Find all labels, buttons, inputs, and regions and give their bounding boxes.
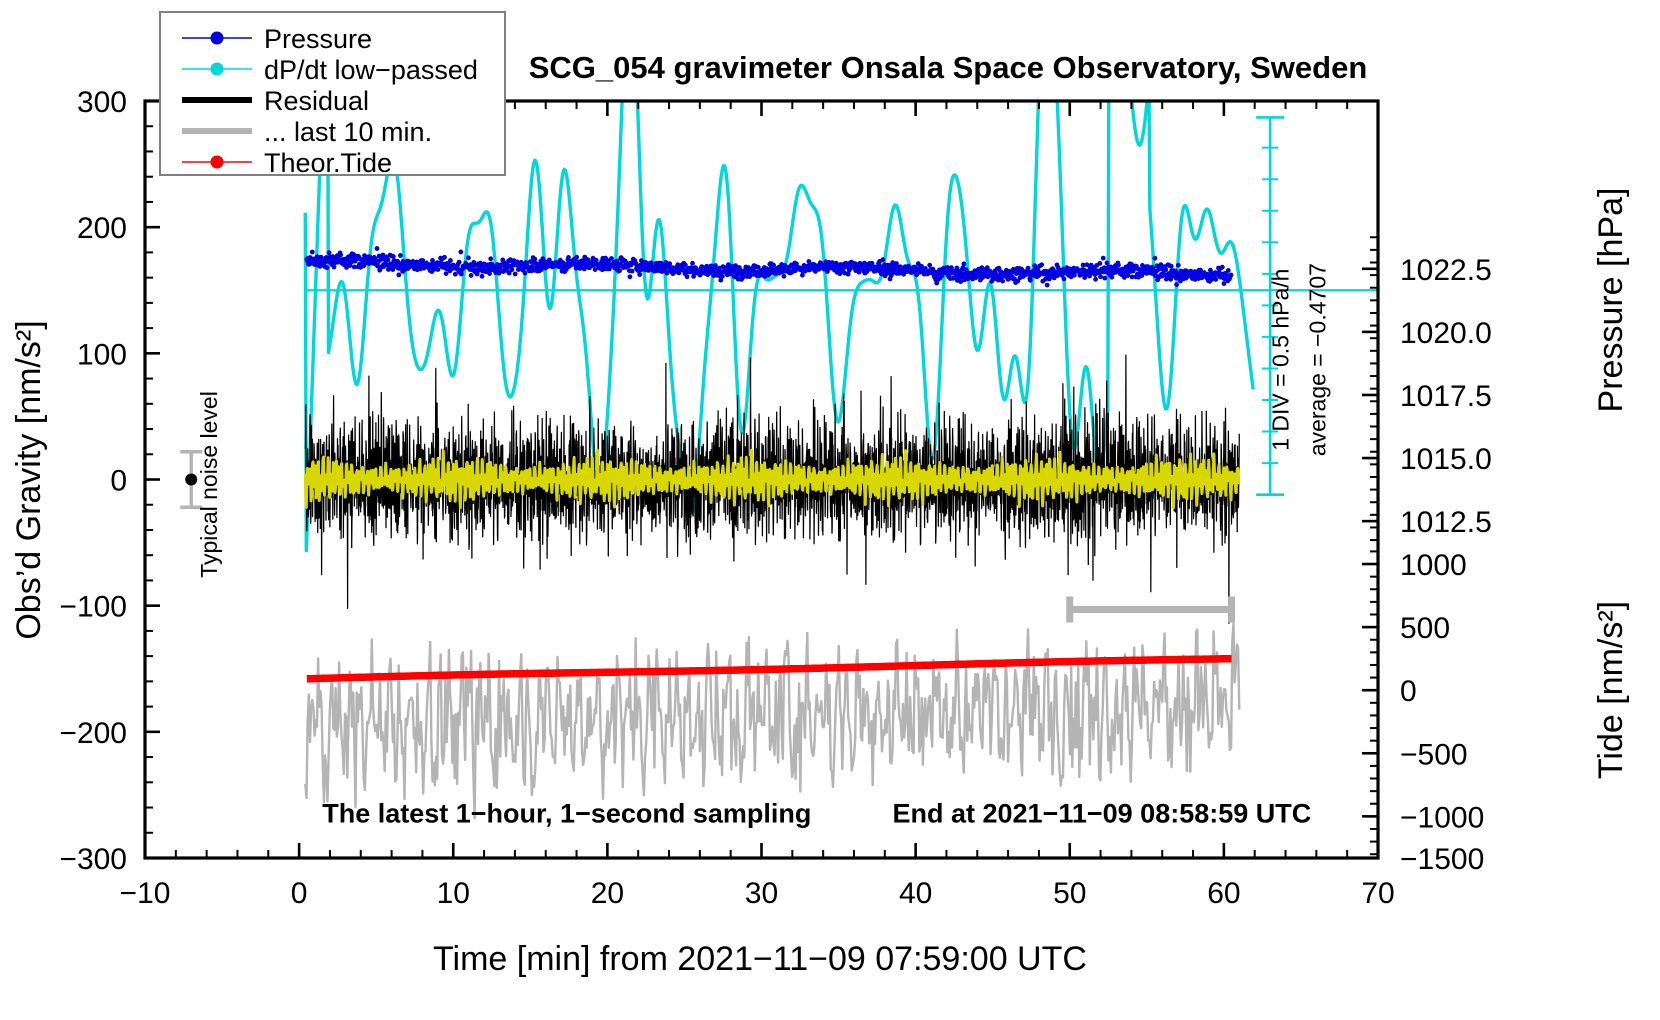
pressure-point: [310, 250, 315, 255]
ytick-label-6: −300: [59, 843, 127, 876]
pressure-point: [637, 272, 642, 277]
pressure-tick-label-0: 1022.5: [1400, 254, 1492, 287]
pressure-point: [1026, 266, 1031, 271]
pressure-point: [1105, 261, 1110, 266]
pressure-point: [685, 274, 690, 279]
pressure-point: [949, 265, 954, 270]
legend-marker-4: [211, 156, 224, 169]
pressure-point: [617, 268, 622, 273]
pressure-point: [1110, 275, 1115, 280]
pressure-point: [469, 273, 474, 278]
pressure-point: [1163, 267, 1168, 272]
pressure-point: [1098, 274, 1103, 279]
pressure-point: [325, 265, 330, 270]
xtick-label-6: 50: [1053, 877, 1086, 910]
tide-tick-label-5: −1500: [1400, 843, 1484, 876]
pressure-point: [488, 256, 493, 261]
pressure-point: [782, 274, 787, 279]
scale-div-label: 1 DIV = 0.5 hPa/h: [1268, 269, 1294, 451]
pressure-point: [1028, 278, 1033, 283]
pressure-point: [1220, 265, 1225, 270]
pressure-point: [327, 250, 332, 255]
gravimeter-plot: −100102030405060703002001000−100−200−300…: [0, 0, 1660, 1020]
xtick-label-7: 60: [1207, 877, 1240, 910]
xtick-label-2: 10: [437, 877, 470, 910]
pressure-point: [1116, 263, 1121, 268]
ytick-label-5: −200: [59, 717, 127, 750]
tide-tick-label-2: 0: [1400, 675, 1417, 708]
legend-label-1: dP/dt low−passed: [264, 55, 478, 85]
tide-tick-label-4: −1000: [1400, 801, 1484, 834]
ytick-label-0: 300: [77, 86, 127, 119]
pressure-point: [332, 265, 337, 270]
pressure-point: [448, 258, 453, 263]
pressure-point: [1039, 262, 1044, 267]
x-axis-title: Time [min] from 2021−11−09 07:59:00 UTC: [433, 940, 1087, 978]
ytick-label-1: 200: [77, 212, 127, 245]
legend-label-2: Residual: [264, 86, 369, 116]
ytick-label-3: 0: [110, 465, 127, 498]
pressure-point: [375, 246, 380, 251]
pressure-point: [442, 255, 447, 260]
pressure-point: [630, 269, 635, 274]
legend-marker-0: [211, 32, 224, 45]
xtick-label-3: 20: [591, 877, 624, 910]
typical-noise-level-label: Typical noise level: [196, 391, 222, 578]
pressure-point: [457, 260, 462, 265]
right-axis-title-pressure: Pressure [hPa]: [1592, 188, 1630, 413]
legend-label-4: Theor.Tide: [264, 148, 392, 178]
pressure-point: [1229, 273, 1234, 278]
pressure-point: [1169, 264, 1174, 269]
pressure-tick-label-1: 1020.0: [1400, 317, 1492, 350]
pressure-point: [720, 274, 725, 279]
pressure-point: [1093, 277, 1098, 282]
legend-marker-1: [211, 63, 224, 76]
xtick-label-0: −10: [120, 877, 171, 910]
pressure-point: [391, 254, 396, 259]
pressure-point: [690, 261, 695, 266]
legend-label-0: Pressure: [264, 24, 372, 54]
pressure-point: [1213, 277, 1218, 282]
series-last-10-min: [305, 623, 1239, 818]
pressure-tick-label-4: 1012.5: [1400, 506, 1492, 539]
average-label: average = −0.4707: [1305, 263, 1331, 456]
pressure-point: [1174, 282, 1179, 287]
footer-sampling-note: The latest 1−hour, 1−second sampling: [322, 799, 811, 829]
pressure-point: [628, 274, 633, 279]
pressure-point: [667, 261, 672, 266]
pressure-point: [713, 263, 718, 268]
tide-tick-label-0: 1000: [1400, 549, 1467, 582]
pressure-point: [962, 262, 967, 267]
pressure-point: [513, 272, 518, 277]
pressure-point: [1062, 277, 1067, 282]
chart-title: SCG_054 gravimeter Onsala Space Observat…: [529, 50, 1368, 85]
pressure-point: [523, 271, 528, 276]
pressure-tick-label-2: 1017.5: [1400, 380, 1492, 413]
pressure-point: [510, 267, 515, 272]
pressure-point: [1098, 261, 1103, 266]
pressure-point: [881, 257, 886, 262]
pressure-point: [1000, 279, 1005, 284]
pressure-point: [1045, 283, 1050, 288]
pressure-point: [396, 273, 401, 278]
xtick-label-1: 0: [291, 877, 308, 910]
pressure-tick-label-3: 1015.0: [1400, 443, 1492, 476]
pressure-point: [1176, 263, 1181, 268]
pressure-point: [453, 272, 458, 277]
ytick-label-2: 100: [77, 338, 127, 371]
pressure-point: [1226, 268, 1231, 273]
right-axis-title-tide: Tide [nm/s²]: [1592, 601, 1630, 779]
pressure-point: [338, 253, 343, 258]
pressure-point: [480, 274, 485, 279]
xtick-label-5: 40: [899, 877, 932, 910]
pressure-point: [398, 253, 403, 258]
chart-canvas: −100102030405060703002001000−100−200−300…: [0, 0, 1660, 1020]
pressure-point: [574, 255, 579, 260]
pressure-point: [458, 250, 463, 255]
pressure-point: [1102, 276, 1107, 281]
pressure-point: [980, 265, 985, 270]
xtick-label-8: 70: [1361, 877, 1394, 910]
pressure-point: [459, 272, 464, 277]
pressure-point: [927, 263, 932, 268]
y-axis-title: Obs’d Gravity [nm/s²]: [10, 320, 48, 639]
tide-tick-label-1: 500: [1400, 612, 1450, 645]
pressure-point: [386, 258, 391, 263]
footer-end-time: End at 2021−11−09 08:58:59 UTC: [893, 799, 1312, 829]
legend-label-3: ... last 10 min.: [264, 117, 432, 147]
pressure-point: [1101, 256, 1106, 261]
xtick-label-4: 30: [745, 877, 778, 910]
pressure-point: [1153, 256, 1158, 261]
pressure-point: [436, 267, 441, 272]
pressure-point: [466, 255, 471, 260]
tide-tick-label-3: −500: [1400, 738, 1468, 771]
ytick-label-4: −100: [59, 591, 127, 624]
